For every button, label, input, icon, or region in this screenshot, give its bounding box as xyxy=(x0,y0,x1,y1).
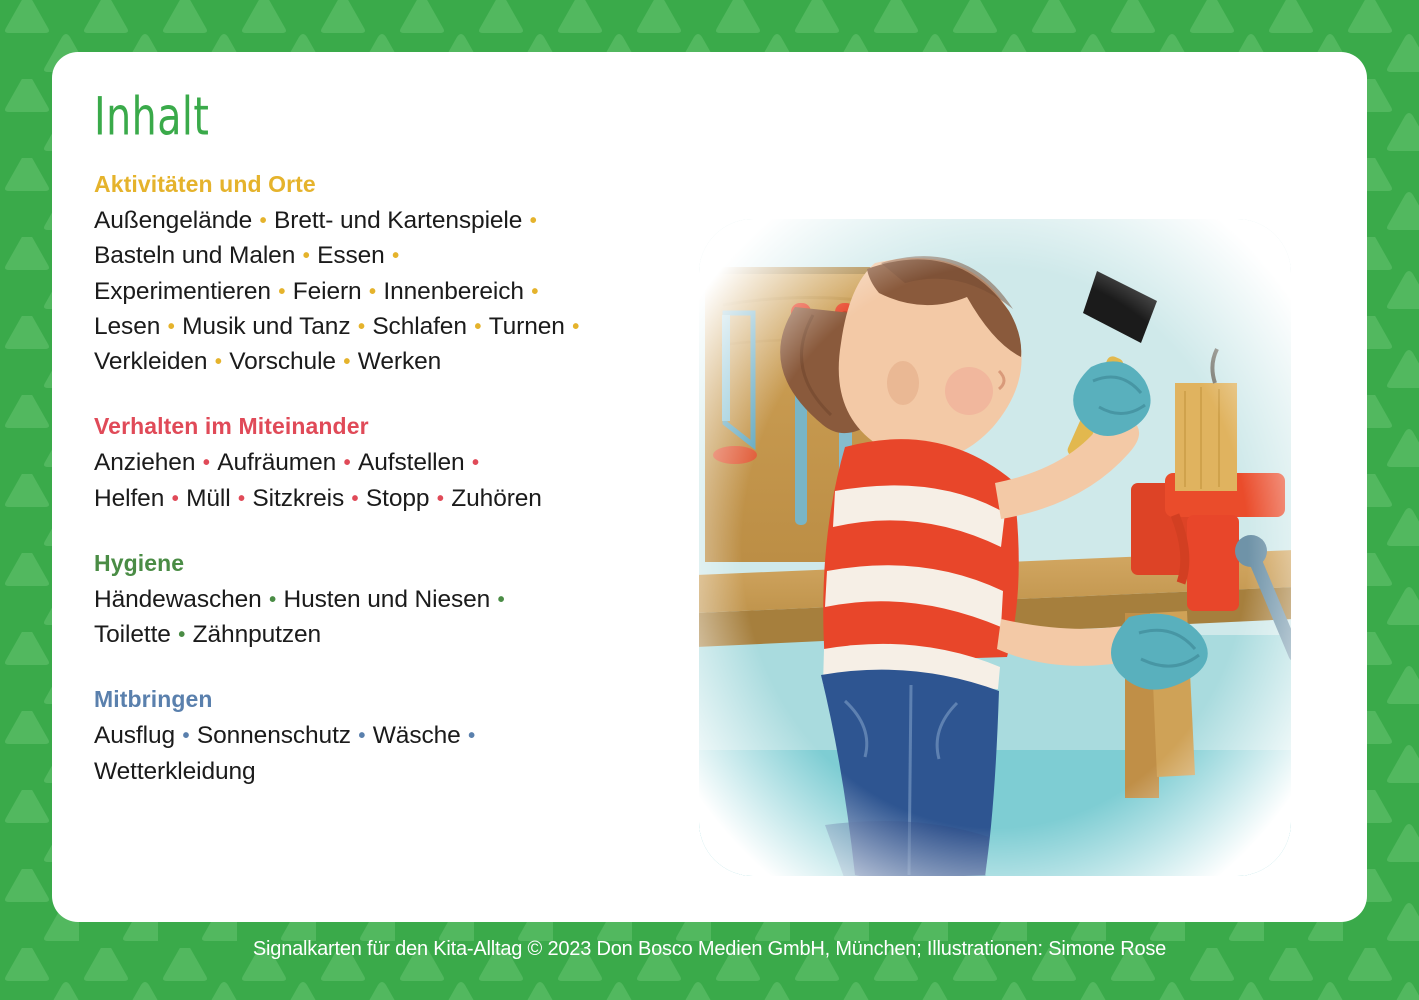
item-label: Husten und Niesen xyxy=(284,586,491,613)
section-items: Händewaschen • Husten und Niesen • Toile… xyxy=(94,582,694,653)
bullet-separator: • xyxy=(522,210,544,232)
item-label: Aufstellen xyxy=(358,449,465,476)
section-heading: Mitbringen xyxy=(94,686,694,713)
section-aktivitaeten-und-orte: Aktivitäten und Orte Außengelände • Bret… xyxy=(94,171,694,379)
bullet-separator: • xyxy=(195,452,217,474)
item-label: Essen xyxy=(317,242,385,269)
bullet-separator: • xyxy=(160,316,182,338)
item-label: Stopp xyxy=(366,485,430,512)
bullet-separator: • xyxy=(351,725,373,747)
item-label: Wetterkleidung xyxy=(94,758,256,785)
contents-text-column: Inhalt Aktivitäten und Orte Außengelände… xyxy=(94,92,694,789)
bullet-separator: • xyxy=(295,245,317,267)
item-label: Feiern xyxy=(293,278,362,305)
bullet-separator: • xyxy=(336,452,358,474)
section-items: Ausflug • Sonnenschutz • Wäsche • Wetter… xyxy=(94,718,694,789)
section-mitbringen: Mitbringen Ausflug • Sonnenschutz • Wäsc… xyxy=(94,686,694,789)
bullet-separator: • xyxy=(336,351,358,373)
item-label: Wäsche xyxy=(373,722,461,749)
bullet-separator: • xyxy=(207,351,229,373)
item-label: Werken xyxy=(358,348,441,375)
item-label: Innenbereich xyxy=(383,278,523,305)
bullet-separator: • xyxy=(465,452,487,474)
illustration-child-at-workbench xyxy=(695,215,1295,880)
item-label: Müll xyxy=(186,485,231,512)
item-label: Musik und Tanz xyxy=(182,313,350,340)
item-label: Schlafen xyxy=(372,313,467,340)
section-heading: Hygiene xyxy=(94,550,694,577)
content-card: Inhalt Aktivitäten und Orte Außengelände… xyxy=(52,52,1367,922)
bullet-separator: • xyxy=(461,725,483,747)
item-label: Turnen xyxy=(489,313,565,340)
bullet-separator: • xyxy=(231,488,253,510)
illustration-svg xyxy=(695,215,1295,880)
bullet-separator: • xyxy=(385,245,407,267)
bullet-separator: • xyxy=(362,281,384,303)
item-label: Händewaschen xyxy=(94,586,262,613)
bullet-separator: • xyxy=(175,725,197,747)
bullet-separator: • xyxy=(252,210,274,232)
section-hygiene: Hygiene Händewaschen • Husten und Niesen… xyxy=(94,550,694,653)
item-label: Zuhören xyxy=(451,485,542,512)
item-label: Außengelände xyxy=(94,207,252,234)
item-label: Zähnputzen xyxy=(193,621,321,648)
page-title: Inhalt xyxy=(94,92,646,144)
item-label: Basteln und Malen xyxy=(94,242,295,269)
section-heading: Aktivitäten und Orte xyxy=(94,171,694,198)
bullet-separator: • xyxy=(262,589,284,611)
item-label: Anziehen xyxy=(94,449,195,476)
item-label: Toilette xyxy=(94,621,171,648)
item-label: Vorschule xyxy=(229,348,336,375)
section-heading: Verhalten im Miteinander xyxy=(94,413,694,440)
bullet-separator: • xyxy=(467,316,489,338)
bullet-separator: • xyxy=(350,316,372,338)
bullet-separator: • xyxy=(524,281,546,303)
item-label: Ausflug xyxy=(94,722,175,749)
footer-credit: Signalkarten für den Kita-Alltag © 2023 … xyxy=(0,938,1419,961)
section-items: Anziehen • Aufräumen • Aufstellen • Helf… xyxy=(94,445,694,516)
section-verhalten-im-miteinander: Verhalten im Miteinander Anziehen • Aufr… xyxy=(94,413,694,516)
section-items: Außengelände • Brett- und Kartenspiele •… xyxy=(94,203,694,379)
item-label: Sitzkreis xyxy=(252,485,344,512)
bullet-separator: • xyxy=(271,281,293,303)
bullet-separator: • xyxy=(429,488,451,510)
bullet-separator: • xyxy=(171,624,193,646)
bullet-separator: • xyxy=(344,488,366,510)
bullet-separator: • xyxy=(565,316,587,338)
item-label: Brett- und Kartenspiele xyxy=(274,207,522,234)
item-label: Verkleiden xyxy=(94,348,207,375)
item-label: Sonnenschutz xyxy=(197,722,351,749)
item-label: Aufräumen xyxy=(217,449,336,476)
bullet-separator: • xyxy=(490,589,512,611)
bullet-separator: • xyxy=(164,488,186,510)
item-label: Experimentieren xyxy=(94,278,271,305)
item-label: Lesen xyxy=(94,313,160,340)
item-label: Helfen xyxy=(94,485,164,512)
